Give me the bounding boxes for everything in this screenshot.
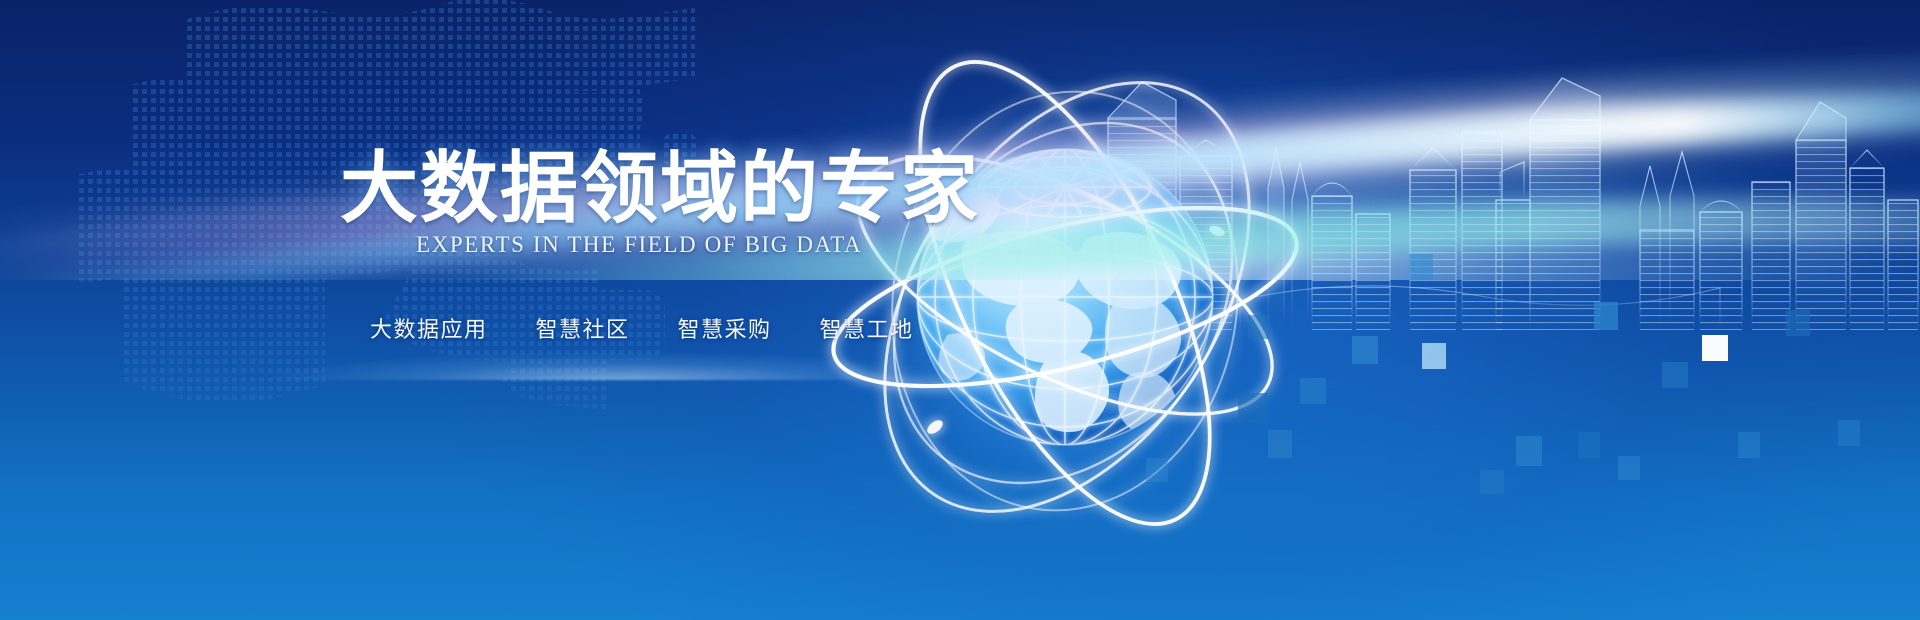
keyword-link-2[interactable]: 智慧社区: [536, 312, 630, 344]
keyword-links: 大数据应用 智慧社区 智慧采购 智慧工地: [370, 312, 914, 344]
keyword-link-3[interactable]: 智慧采购: [678, 312, 772, 344]
page-subtitle: EXPERTS IN THE FIELD OF BIG DATA: [416, 232, 862, 258]
keyword-link-4[interactable]: 智慧工地: [820, 312, 914, 344]
banner-content: 大数据领域的专家 EXPERTS IN THE FIELD OF BIG DAT…: [0, 0, 920, 620]
page-title: 大数据领域的专家: [340, 150, 980, 228]
hero-banner: 大数据领域的专家 EXPERTS IN THE FIELD OF BIG DAT…: [0, 0, 1920, 620]
keyword-link-1[interactable]: 大数据应用: [370, 312, 488, 344]
